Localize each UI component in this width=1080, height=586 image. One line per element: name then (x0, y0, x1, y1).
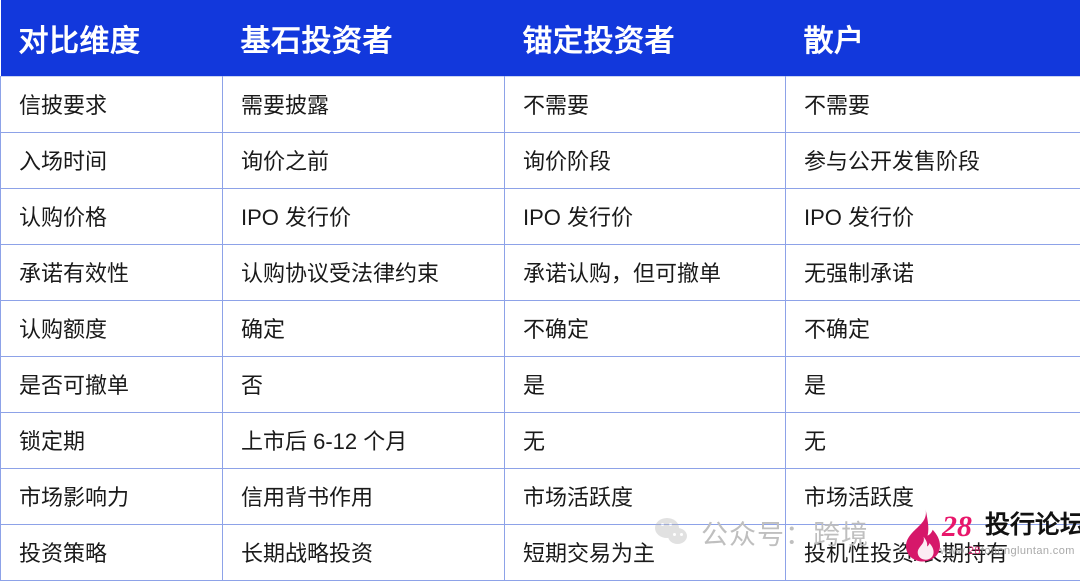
cell-retail: 无强制承诺 (786, 244, 1080, 300)
cell-anchor: 市场活跃度 (505, 468, 786, 524)
table-row: 是否可撤单 否 是 是 (1, 356, 1080, 412)
cell-anchor: 承诺认购，但可撤单 (505, 244, 786, 300)
cell-cornerstone: 上市后 6-12 个月 (223, 412, 505, 468)
cell-cornerstone: 认购协议受法律约束 (223, 244, 505, 300)
cell-retail: 不确定 (786, 300, 1080, 356)
cell-retail: IPO 发行价 (786, 188, 1080, 244)
cell-cornerstone: 长期战略投资 (223, 524, 505, 580)
cell-dimension: 入场时间 (1, 132, 223, 188)
table-row: 认购价格 IPO 发行价 IPO 发行价 IPO 发行价 (1, 188, 1080, 244)
cell-anchor: 无 (505, 412, 786, 468)
comparison-table-page: 对比维度 基石投资者 锚定投资者 散户 信披要求 需要披露 不需要 不需要 入场… (0, 0, 1080, 586)
table-row: 锁定期 上市后 6-12 个月 无 无 (1, 412, 1080, 468)
cell-dimension: 投资策略 (1, 524, 223, 580)
cell-retail: 是 (786, 356, 1080, 412)
cell-anchor: 短期交易为主 (505, 524, 786, 580)
cell-dimension: 是否可撤单 (1, 356, 223, 412)
cell-cornerstone: IPO 发行价 (223, 188, 505, 244)
header-row: 对比维度 基石投资者 锚定投资者 散户 (1, 0, 1080, 76)
investor-comparison-table: 对比维度 基石投资者 锚定投资者 散户 信披要求 需要披露 不需要 不需要 入场… (0, 0, 1080, 581)
table-row: 市场影响力 信用背书作用 市场活跃度 市场活跃度 (1, 468, 1080, 524)
cell-cornerstone: 信用背书作用 (223, 468, 505, 524)
cell-dimension: 认购额度 (1, 300, 223, 356)
cell-retail: 参与公开发售阶段 (786, 132, 1080, 188)
cell-dimension: 锁定期 (1, 412, 223, 468)
cell-retail: 市场活跃度 (786, 468, 1080, 524)
cell-anchor: 不需要 (505, 76, 786, 132)
cell-cornerstone: 否 (223, 356, 505, 412)
column-header-retail: 散户 (786, 0, 1080, 76)
cell-anchor: 是 (505, 356, 786, 412)
column-header-anchor: 锚定投资者 (505, 0, 786, 76)
table-row: 投资策略 长期战略投资 短期交易为主 投机性投资/长期持有 (1, 524, 1080, 580)
cell-anchor: 询价阶段 (505, 132, 786, 188)
table-body: 信披要求 需要披露 不需要 不需要 入场时间 询价之前 询价阶段 参与公开发售阶… (1, 76, 1080, 580)
cell-dimension: 市场影响力 (1, 468, 223, 524)
cell-dimension: 信披要求 (1, 76, 223, 132)
cell-cornerstone: 询价之前 (223, 132, 505, 188)
cell-cornerstone: 需要披露 (223, 76, 505, 132)
table-row: 认购额度 确定 不确定 不确定 (1, 300, 1080, 356)
table-row: 入场时间 询价之前 询价阶段 参与公开发售阶段 (1, 132, 1080, 188)
cell-dimension: 认购价格 (1, 188, 223, 244)
column-header-cornerstone: 基石投资者 (223, 0, 505, 76)
cell-retail: 不需要 (786, 76, 1080, 132)
table-row: 信披要求 需要披露 不需要 不需要 (1, 76, 1080, 132)
cell-anchor: 不确定 (505, 300, 786, 356)
column-header-dimension: 对比维度 (1, 0, 223, 76)
cell-retail: 无 (786, 412, 1080, 468)
cell-anchor: IPO 发行价 (505, 188, 786, 244)
cell-dimension: 承诺有效性 (1, 244, 223, 300)
table-header: 对比维度 基石投资者 锚定投资者 散户 (1, 0, 1080, 76)
table-row: 承诺有效性 认购协议受法律约束 承诺认购，但可撤单 无强制承诺 (1, 244, 1080, 300)
cell-retail: 投机性投资/长期持有 (786, 524, 1080, 580)
cell-cornerstone: 确定 (223, 300, 505, 356)
